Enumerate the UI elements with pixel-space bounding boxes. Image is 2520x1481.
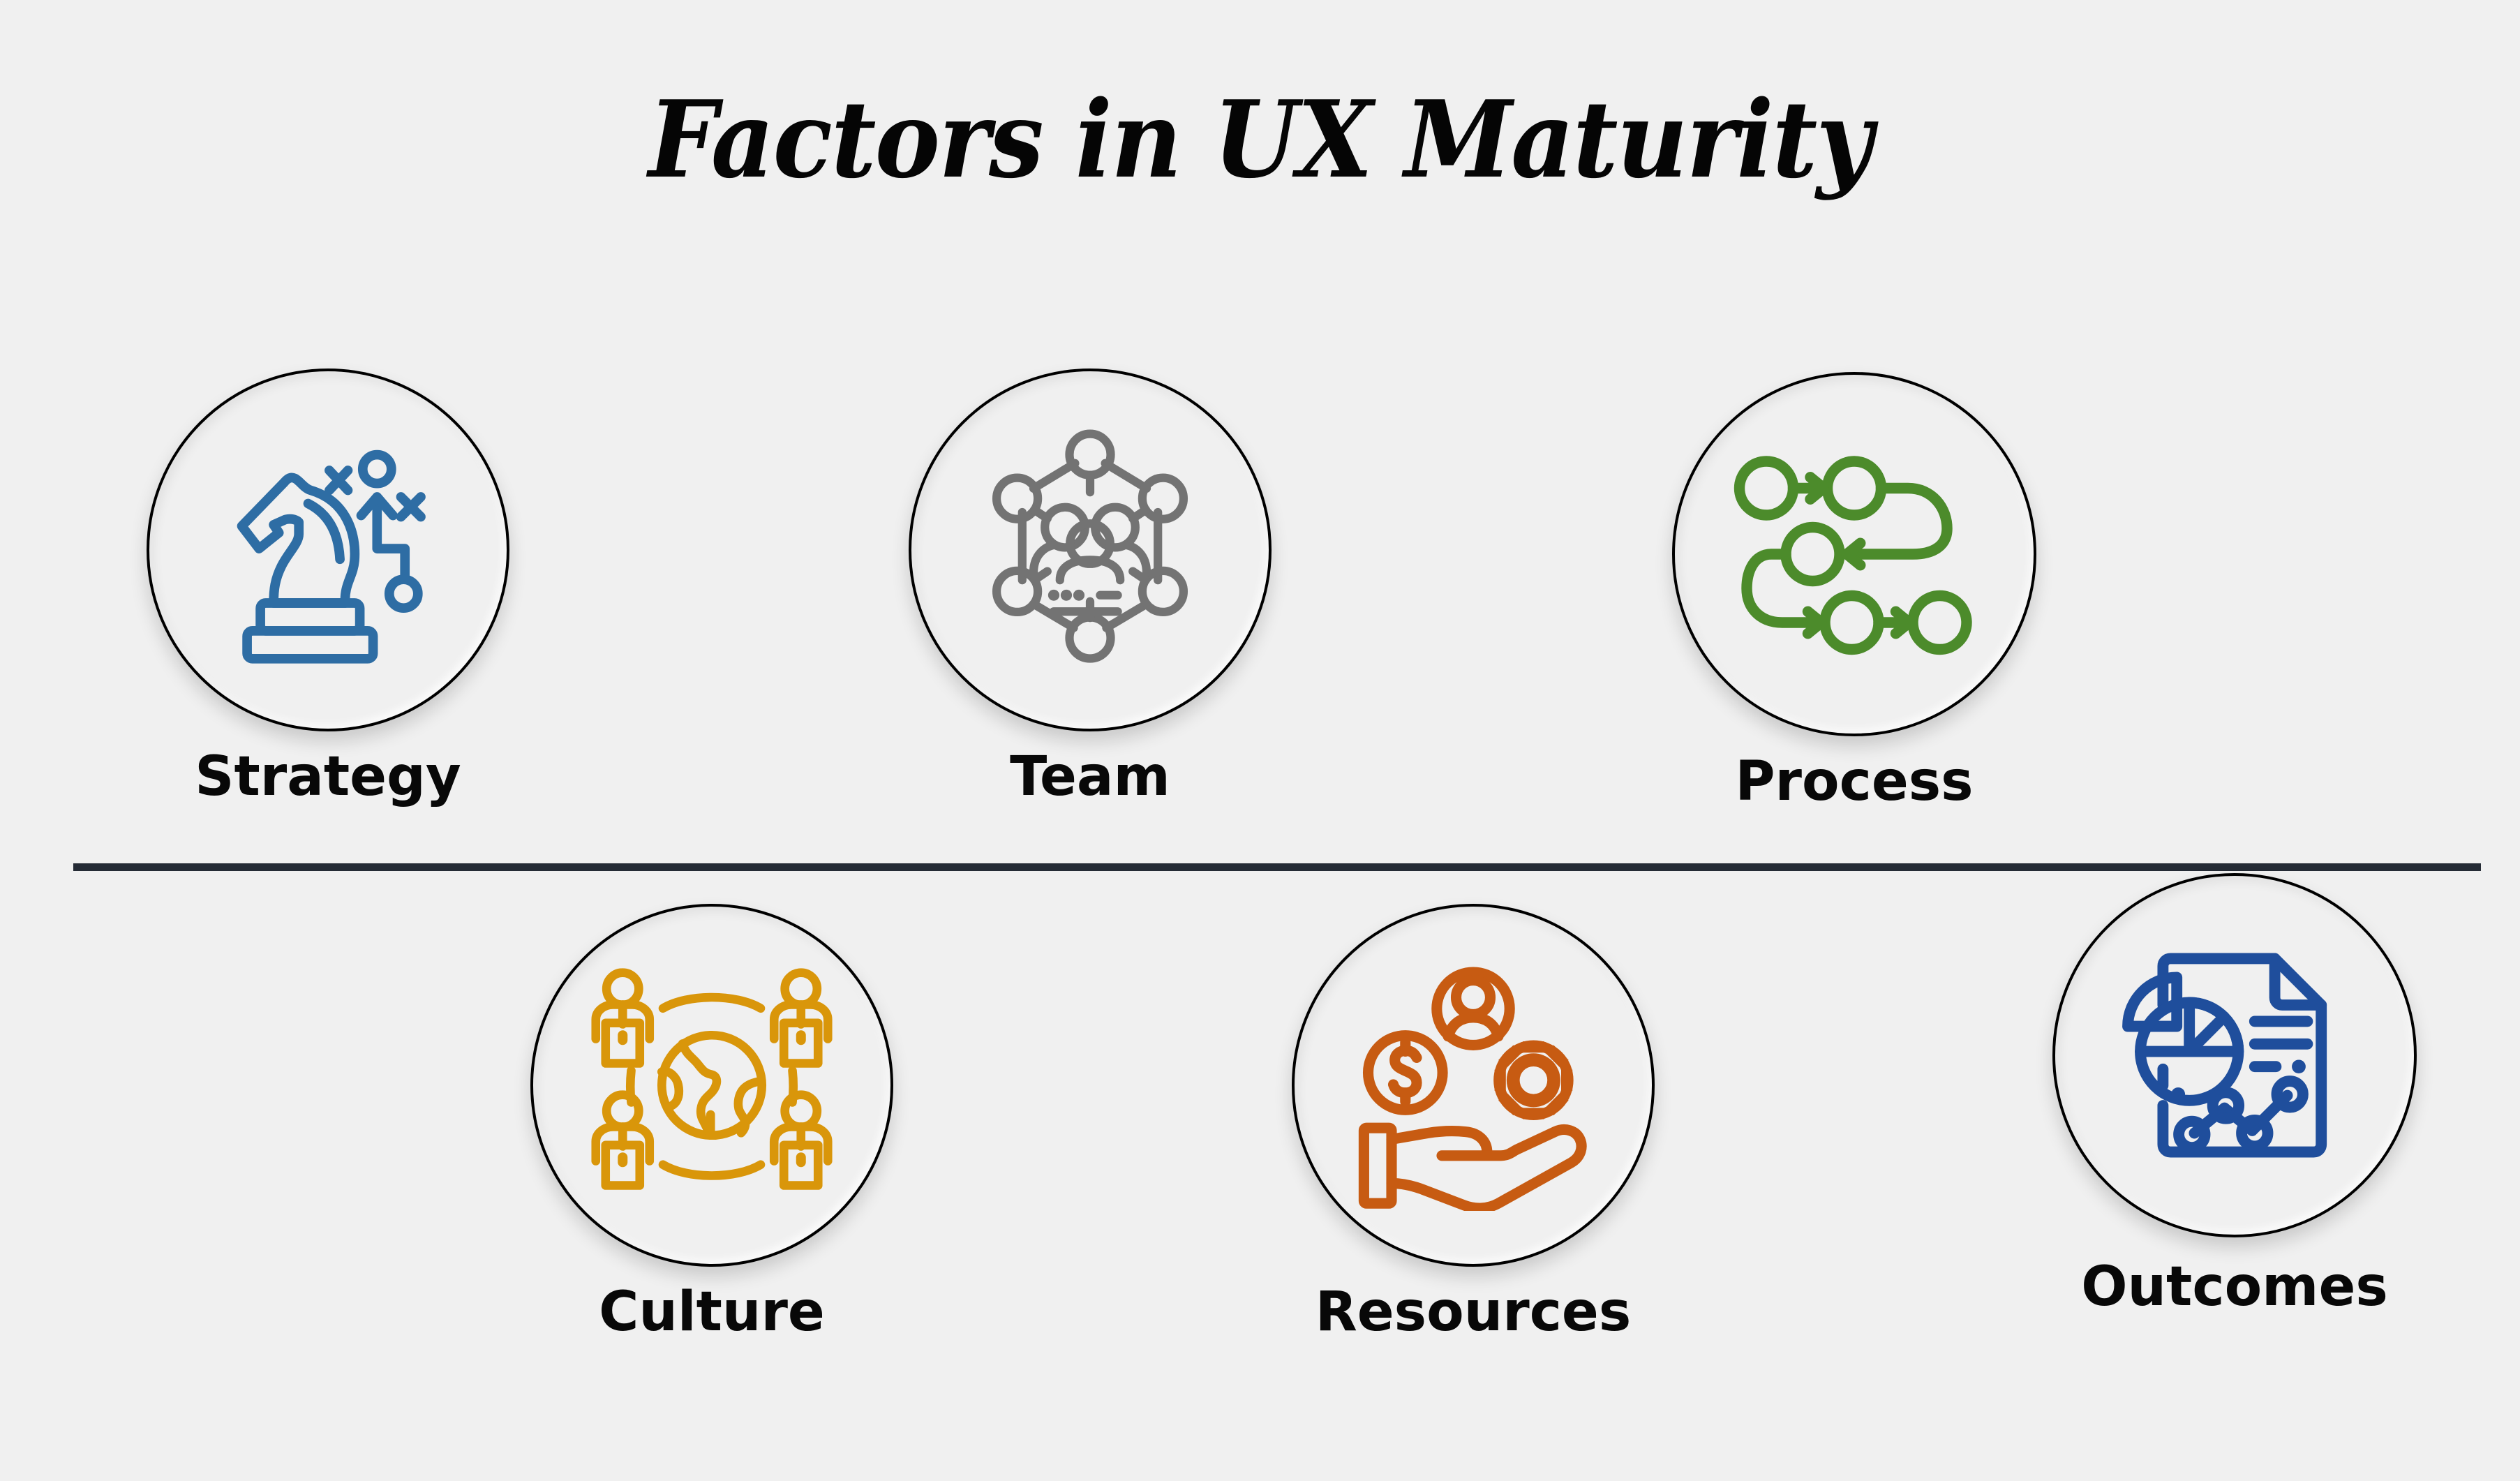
factor-label-process: Process [1672,750,2036,813]
factor-circle-process[interactable] [1672,372,2036,736]
factor-label-resources: Resources [1292,1281,1655,1344]
page-title: Factors in UX Maturity [100,77,2419,202]
factor-circle-culture[interactable] [530,904,893,1267]
factor-label-team: Team [909,745,1272,808]
factor-circle-resources[interactable] [1292,904,1655,1267]
hand-money-gear-resources-icon [1348,960,1599,1211]
factor-label-culture: Culture [530,1281,893,1344]
factor-circle-team[interactable] [909,369,1272,731]
globe-people-culture-icon [590,963,834,1207]
chess-knight-strategy-icon [195,417,461,683]
factor-circle-strategy[interactable] [147,369,509,731]
dash-dot-divider [73,863,2481,871]
network-people-team-icon [964,424,1216,676]
report-chart-outcomes-icon [2109,930,2360,1181]
factor-label-strategy: Strategy [147,745,509,808]
factor-circle-outcomes[interactable] [2052,873,2417,1237]
serpentine-flow-process-icon [1732,432,1976,676]
slide-canvas: Factors in UX Maturity [0,0,2520,1481]
factor-label-outcomes: Outcomes [2052,1256,2417,1318]
